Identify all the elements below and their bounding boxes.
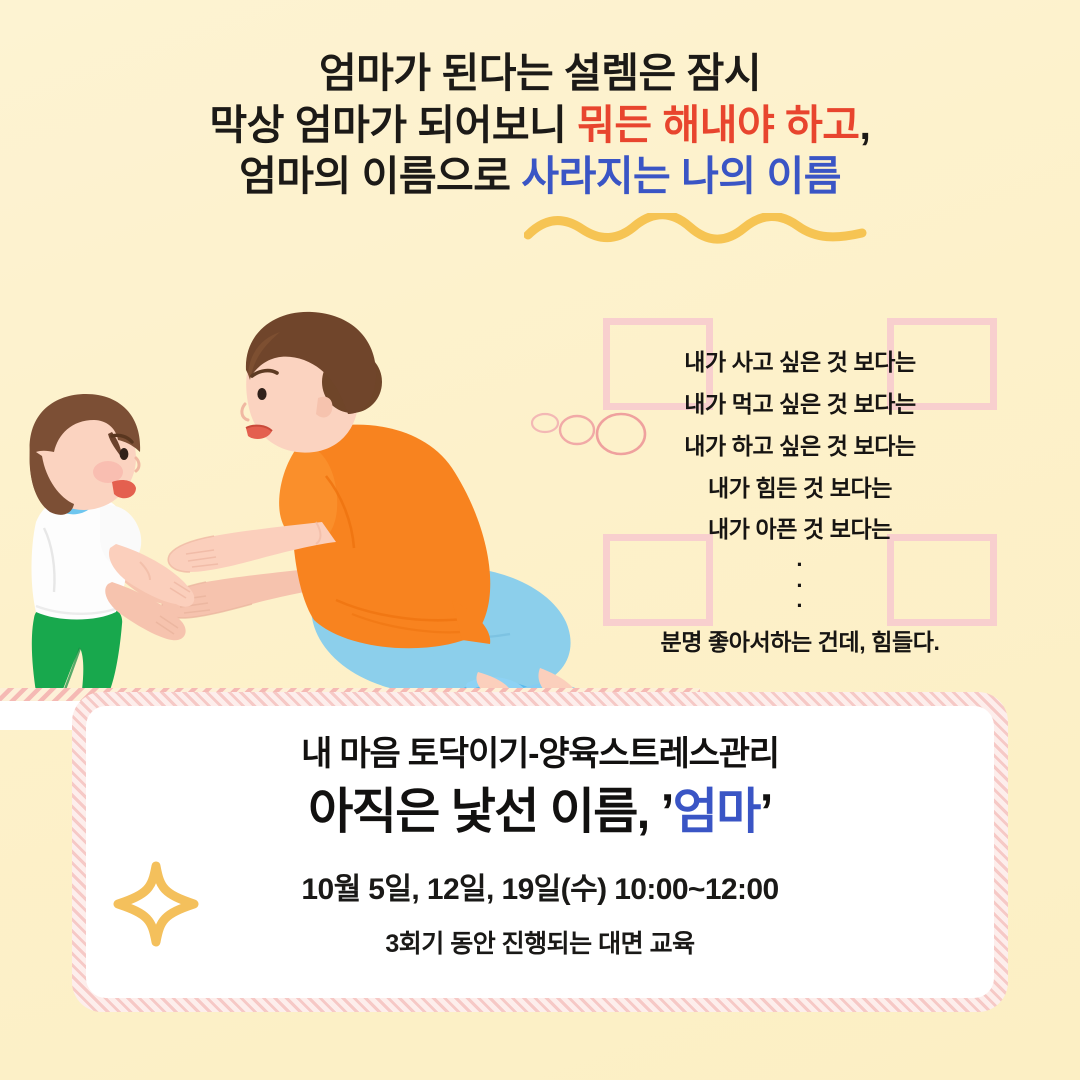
quote-line: 내가 하고 싶은 것 보다는 [603, 426, 997, 468]
quote-ellipsis: · · · [603, 555, 997, 616]
mother-and-child-illustration [0, 300, 700, 730]
quote-line: 내가 먹고 싶은 것 보다는 [603, 384, 997, 426]
headline-line-2-highlight: 뭐든 해내야 하고 [577, 102, 859, 148]
child-head [30, 394, 141, 515]
card-title-quote-open: ’ [661, 785, 673, 839]
quote-text-block: 내가 사고 싶은 것 보다는 내가 먹고 싶은 것 보다는 내가 하고 싶은 것… [603, 342, 997, 664]
child-cheek [93, 461, 123, 483]
headline-text: 엄마가 된다는 설렘은 잠시 막상 엄마가 되어보니 뭐든 해내야 하고, 엄마… [0, 48, 1080, 203]
headline-line-2: 막상 엄마가 되어보니 뭐든 해내야 하고, [0, 100, 1080, 152]
headline-line-3-plain: 엄마의 이름으로 [239, 153, 521, 199]
card-title-plain: 아직은 낯선 이름, [308, 785, 660, 839]
mother-eye [257, 388, 266, 400]
quote-ellipsis-dot: · [603, 596, 997, 616]
headline-line-1: 엄마가 된다는 설렘은 잠시 [0, 48, 1080, 100]
quote-line: 내가 사고 싶은 것 보다는 [603, 342, 997, 384]
card-title-quote-close: ’ [760, 785, 772, 839]
wavy-underline-icon [524, 213, 868, 247]
headline-line-3-highlight: 사라지는 나의 이름 [521, 153, 841, 199]
info-card-content: 내 마음 토닥이기-양육스트레스관리 아직은 낯선 이름, ’엄마’ 10월 5… [86, 736, 994, 960]
card-note: 3회기 동안 진행되는 대면 교육 [86, 924, 994, 960]
info-card-frame: 내 마음 토닥이기-양육스트레스관리 아직은 낯선 이름, ’엄마’ 10월 5… [72, 692, 1008, 1012]
card-subtitle: 내 마음 토닥이기-양육스트레스관리 [86, 736, 994, 773]
quote-line: 내가 힘든 것 보다는 [603, 468, 997, 510]
poster-root: 엄마가 된다는 설렘은 잠시 막상 엄마가 되어보니 뭐든 해내야 하고, 엄마… [0, 0, 1080, 1080]
quote-box: 내가 사고 싶은 것 보다는 내가 먹고 싶은 것 보다는 내가 하고 싶은 것… [603, 318, 997, 626]
info-card: 내 마음 토닥이기-양육스트레스관리 아직은 낯선 이름, ’엄마’ 10월 5… [86, 706, 994, 998]
headline-line-2-plain: 막상 엄마가 되어보니 [210, 102, 578, 148]
card-date: 10월 5일, 12일, 19일(수) 10:00~12:00 [86, 864, 994, 908]
child-eye [120, 448, 129, 460]
headline-line-2-comma: , [860, 102, 871, 148]
card-title-highlight: 엄마 [673, 785, 760, 839]
quote-line: 내가 아픈 것 보다는 [603, 509, 997, 551]
card-title: 아직은 낯선 이름, ’엄마’ [86, 785, 994, 840]
headline-line-3: 엄마의 이름으로 사라지는 나의 이름 [0, 151, 1080, 203]
quote-final-line: 분명 좋아서하는 건데, 힘들다. [603, 622, 997, 664]
